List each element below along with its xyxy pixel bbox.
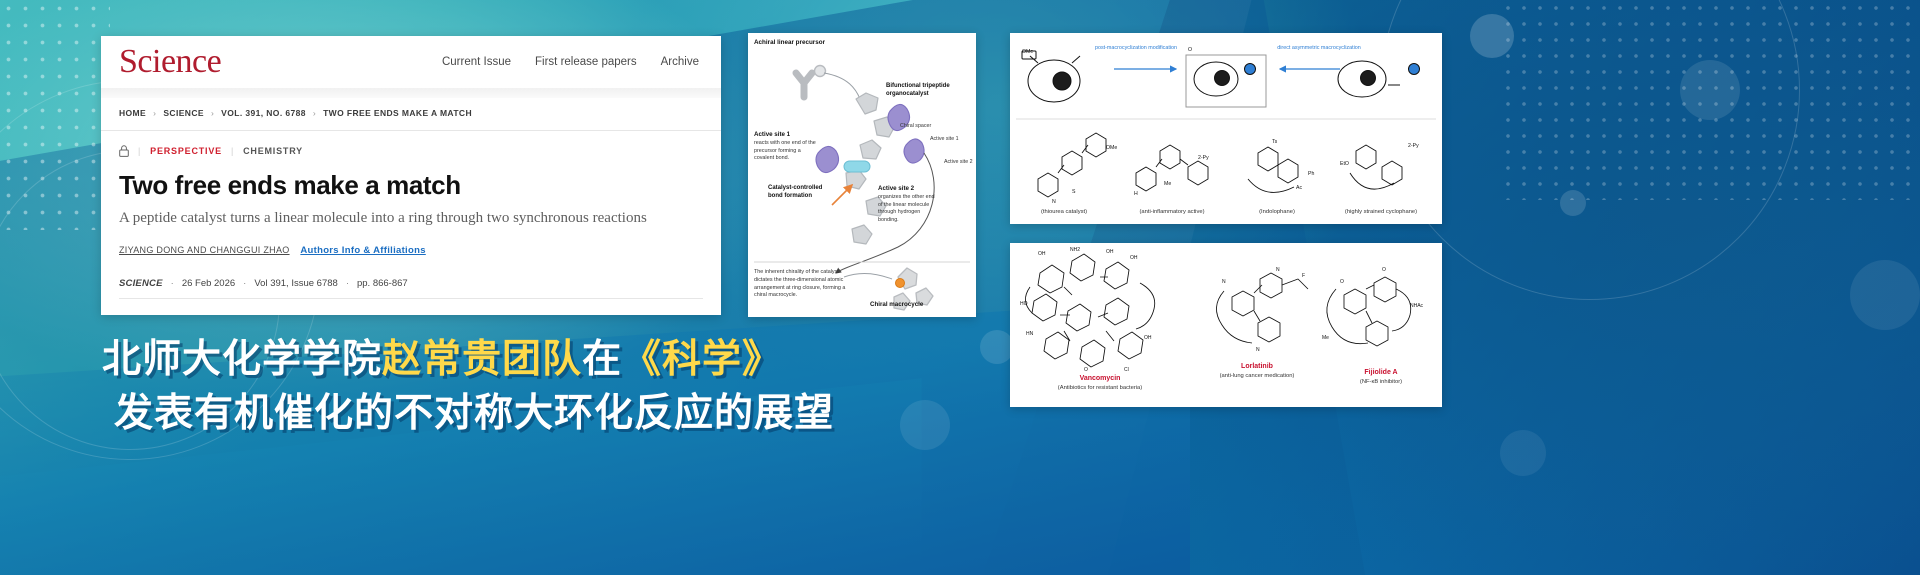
article-tagline: | PERSPECTIVE | CHEMISTRY: [119, 145, 703, 157]
chevron-right-icon: ›: [211, 108, 214, 118]
figure-catalytic-scheme: Achiral linear precursor Bifunctional tr…: [748, 33, 976, 317]
svg-text:Cl: Cl: [1124, 367, 1129, 373]
label-active-site-2-body: organizes the other end of the linear mo…: [878, 194, 940, 225]
svg-text:2-Py: 2-Py: [1198, 155, 1209, 161]
headline-seg-4: 《科学》: [622, 338, 782, 381]
citation-date: 26 Feb 2026: [182, 278, 235, 289]
article-citation: SCIENCE · 26 Feb 2026 · Vol 391, Issue 6…: [119, 278, 703, 299]
svg-text:N: N: [1276, 267, 1280, 273]
svg-text:Ts: Ts: [1272, 139, 1278, 145]
decor-bokeh-7: [1500, 430, 1546, 476]
svg-text:OH: OH: [1106, 249, 1114, 255]
tag-divider: |: [231, 146, 234, 156]
svg-text:OMe: OMe: [1106, 145, 1117, 151]
citation-dot: ·: [243, 278, 246, 289]
headline-seg-1: 北师大化学学院: [102, 338, 382, 381]
figure-macrocyclic-drugs: OH NH2 OH OH HO HN O Cl OH N N F N O NHA…: [1010, 243, 1442, 407]
breadcrumb-item-home[interactable]: HOME: [119, 108, 146, 118]
tag-subject[interactable]: CHEMISTRY: [243, 146, 303, 156]
label-chiral-spacer: Chiral spacer: [900, 123, 931, 129]
breadcrumb-item-science[interactable]: SCIENCE: [163, 108, 204, 118]
svg-text:Me: Me: [1164, 181, 1171, 187]
headline-seg-3: 在: [582, 338, 622, 381]
article-authors: ZIYANG DONG AND CHANGGUI ZHAO Authors In…: [119, 245, 703, 256]
svg-text:HN: HN: [1026, 331, 1034, 337]
svg-text:O: O: [1188, 47, 1192, 53]
science-article-card: Science Current Issue First release pape…: [101, 36, 721, 315]
label-chiral-macrocycle: Chiral macrocycle: [870, 301, 926, 308]
breadcrumb-item-volume[interactable]: VOL. 391, NO. 6788: [221, 108, 306, 118]
svg-text:2-Py: 2-Py: [1408, 143, 1419, 149]
tag-article-type[interactable]: PERSPECTIVE: [150, 146, 222, 156]
svg-text:F: F: [1302, 273, 1305, 279]
header-shadow-bar: [101, 88, 721, 98]
figure-macrocyclization-strategies: OMe O OMe Me 2-Py Ts Ph EtO 2-Py Ac N S …: [1010, 33, 1442, 224]
svg-text:EtO: EtO: [1340, 161, 1349, 167]
label-active-site-2-title: Active site 2: [878, 185, 914, 192]
nav-archive[interactable]: Archive: [661, 56, 699, 68]
authors-info-link[interactable]: Authors Info & Affiliations: [300, 245, 425, 256]
svg-text:O: O: [1382, 267, 1386, 273]
svg-text:N: N: [1222, 279, 1226, 285]
label-active-site-1-body: reacts with one end of the precursor for…: [754, 140, 816, 163]
svg-text:O: O: [1340, 279, 1344, 285]
svg-text:N: N: [1256, 347, 1260, 353]
chevron-right-icon: ›: [313, 108, 316, 118]
drug-name-lorlatinib: Lorlatinib: [1190, 363, 1324, 370]
headline: 北师大化学学院赵常贵团队在《科学》 发表有机催化的不对称大环化反应的展望: [94, 336, 854, 437]
svg-text:Ac: Ac: [1296, 185, 1302, 191]
label-active-site-1-title: Active site 1: [754, 131, 790, 138]
svg-text:N: N: [1052, 199, 1056, 205]
lock-icon: [119, 145, 129, 157]
label-active-site-1-tag: Active site 1: [930, 136, 966, 142]
caption-strained-cyclophane: (highly strained cyclophane): [1324, 209, 1438, 215]
breadcrumb-item-article: TWO FREE ENDS MAKE A MATCH: [323, 108, 472, 118]
headline-seg-2: 赵常贵团队: [382, 338, 582, 381]
svg-text:O: O: [1084, 367, 1088, 373]
chevron-right-icon: ›: [153, 108, 156, 118]
science-logo[interactable]: Science: [119, 45, 221, 79]
decor-bokeh-3: [1680, 60, 1740, 120]
headline-seg-5: 发表有机催化的不对称大环化反应的展望: [114, 392, 834, 435]
citation-pages: pp. 866-867: [357, 278, 408, 289]
headline-line-1: 北师大化学学院赵常贵团队在《科学》: [102, 336, 854, 384]
breadcrumb: HOME › SCIENCE › VOL. 391, NO. 6788 › TW…: [101, 98, 721, 131]
decor-bokeh-6: [900, 400, 950, 450]
article-body: | PERSPECTIVE | CHEMISTRY Two free ends …: [101, 131, 721, 299]
svg-text:OH: OH: [1038, 251, 1046, 257]
arrow-label-post-modification: post-macrocyclization modification: [1094, 45, 1178, 52]
decor-bokeh-4: [1850, 260, 1920, 330]
author-names[interactable]: ZIYANG DONG AND CHANGGUI ZHAO: [119, 245, 290, 255]
svg-text:OH: OH: [1130, 255, 1138, 261]
decor-bokeh-5: [980, 330, 1014, 364]
citation-volume: Vol 391, Issue 6788: [254, 278, 337, 289]
label-achiral-precursor: Achiral linear precursor: [754, 39, 825, 46]
svg-text:NH2: NH2: [1070, 247, 1080, 253]
label-catalyst-bond-formation: Catalyst-controlled bond formation: [768, 185, 824, 200]
drug-name-vancomycin: Vancomycin: [1026, 375, 1174, 382]
article-title: Two free ends make a match: [119, 170, 703, 201]
svg-text:HO: HO: [1020, 301, 1028, 307]
citation-journal: SCIENCE: [119, 278, 163, 289]
science-site-header: Science Current Issue First release pape…: [101, 36, 721, 88]
svg-text:NHAc: NHAc: [1410, 303, 1424, 309]
svg-text:Ph: Ph: [1308, 171, 1314, 177]
decor-bokeh-2: [1560, 190, 1586, 216]
drug-note-fijiolide-a: (NF-κB inhibitor): [1326, 379, 1436, 385]
drug-note-vancomycin: (Antibiotics for resistant bacteria): [1026, 385, 1174, 391]
caption-anti-inflammatory: (anti-inflammatory active): [1114, 209, 1230, 215]
tag-divider: |: [138, 146, 141, 156]
citation-dot: ·: [171, 278, 174, 289]
citation-dot: ·: [346, 278, 349, 289]
nav-current-issue[interactable]: Current Issue: [442, 56, 511, 68]
label-active-site-2-tag: Active site 2: [944, 159, 974, 165]
headline-line-2: 发表有机催化的不对称大环化反应的展望: [114, 390, 854, 438]
drug-note-lorlatinib: (anti-lung cancer medication): [1190, 373, 1324, 379]
decor-bokeh-1: [1470, 14, 1514, 58]
svg-text:OMe: OMe: [1022, 49, 1033, 55]
nav-first-release-papers[interactable]: First release papers: [535, 56, 637, 68]
svg-text:S: S: [1072, 189, 1076, 195]
arrow-label-direct-macrocyclization: direct asymmetric macrocyclization: [1276, 45, 1362, 52]
svg-text:Me: Me: [1322, 335, 1329, 341]
drug-name-fijiolide-a: Fijiolide A: [1326, 369, 1436, 376]
macrocycle-structures: OMe O OMe Me 2-Py Ts Ph EtO 2-Py Ac N S …: [1010, 33, 1442, 224]
article-subtitle: A peptide catalyst turns a linear molecu…: [119, 210, 703, 227]
svg-text:H: H: [1134, 191, 1138, 197]
label-organocatalyst: Bifunctional tripeptide organocatalyst: [886, 83, 960, 98]
label-scheme-footer: The inherent chirality of the catalyst d…: [754, 269, 846, 300]
science-main-nav: Current Issue First release papers Archi…: [442, 56, 703, 68]
caption-thiourea-catalyst: (thiourea catalyst): [1016, 209, 1112, 215]
svg-text:OH: OH: [1144, 335, 1152, 341]
caption-indolophane: (Indolophane): [1234, 209, 1320, 215]
